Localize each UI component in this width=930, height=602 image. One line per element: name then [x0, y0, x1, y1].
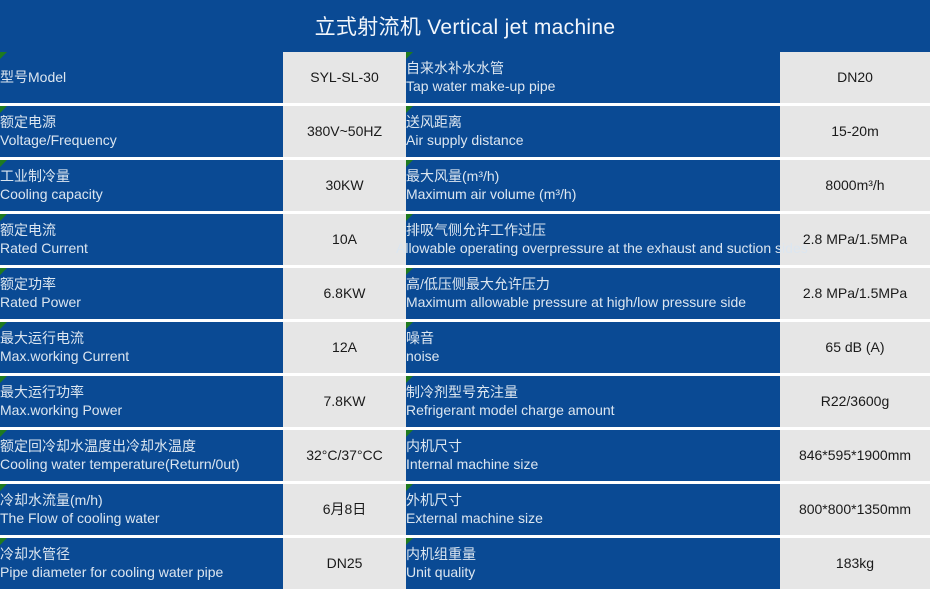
comment-marker-icon — [0, 484, 7, 491]
spec-value-left: 30KW — [283, 160, 406, 211]
spec-label-en: Maximum allowable pressure at high/low p… — [406, 294, 780, 312]
comment-marker-icon — [406, 430, 413, 437]
spec-label-en: Refrigerant model charge amount — [406, 402, 780, 420]
spec-value-right: 846*595*1900mm — [780, 430, 930, 481]
spec-label-en: Voltage/Frequency — [0, 132, 283, 150]
spec-label-en: noise — [406, 348, 780, 366]
spec-value-right: 8000m³/h — [780, 160, 930, 211]
spec-label-en: Unit quality — [406, 564, 780, 582]
spec-label-cn: 内机尺寸 — [406, 438, 780, 456]
spec-label-right: 噪音noise — [406, 322, 780, 373]
spec-label-left: 额定电源Voltage/Frequency — [0, 106, 283, 157]
spec-label-right: 内机尺寸Internal machine size — [406, 430, 780, 481]
spec-label-cn: 噪音 — [406, 330, 780, 348]
table-row: 额定回冷却水温度出冷却水温度Cooling water temperature(… — [0, 430, 930, 481]
spec-label-cn: 制冷剂型号充注量 — [406, 384, 780, 402]
table-row: 工业制冷量Cooling capacity30KW最大风量(m³/h)Maxim… — [0, 160, 930, 211]
spec-label-cn: 额定电流 — [0, 222, 283, 240]
spec-label-left: 最大运行电流Max.working Current — [0, 322, 283, 373]
spec-label-right: 送风距离Air supply distance — [406, 106, 780, 157]
spec-label-en: Max.working Power — [0, 402, 283, 420]
comment-marker-icon — [0, 52, 7, 59]
comment-marker-icon — [406, 106, 413, 113]
spec-label-cn: 排吸气侧允许工作过压 — [406, 222, 780, 240]
comment-marker-icon — [406, 52, 413, 59]
spec-label-en: Cooling water temperature(Return/0ut) — [0, 456, 283, 474]
spec-label-cn: 冷却水管径 — [0, 546, 283, 564]
table-row: 型号ModelSYL-SL-30自来水补水水管Tap water make-up… — [0, 52, 930, 103]
spec-sheet: XIIKQ 立式射流机 Vertical jet machine 型号Model… — [0, 0, 930, 602]
spec-label-en: Rated Power — [0, 294, 283, 312]
spec-label-cn: 高/低压侧最大允许压力 — [406, 276, 780, 294]
comment-marker-icon — [0, 538, 7, 545]
spec-value-left: SYL-SL-30 — [283, 52, 406, 103]
spec-value-right: 65 dB (A) — [780, 322, 930, 373]
spec-label-left: 工业制冷量Cooling capacity — [0, 160, 283, 211]
table-row: 额定功率Rated Power6.8KW高/低压侧最大允许压力Maximum a… — [0, 268, 930, 319]
spec-value-left: 32°C/37°CC — [283, 430, 406, 481]
spec-label-left: 冷却水流量(m/h)The Flow of cooling water — [0, 484, 283, 535]
table-row: 最大运行电流Max.working Current12A噪音noise65 dB… — [0, 322, 930, 373]
spec-label-en: Rated Current — [0, 240, 283, 258]
spec-label-en: Cooling capacity — [0, 186, 283, 204]
spec-label-left: 额定电流Rated Current — [0, 214, 283, 265]
comment-marker-icon — [0, 268, 7, 275]
spec-label-left: 最大运行功率Max.working Power — [0, 376, 283, 427]
page-title: 立式射流机 Vertical jet machine — [0, 0, 930, 52]
comment-marker-icon — [406, 160, 413, 167]
spec-value-right: 800*800*1350mm — [780, 484, 930, 535]
comment-marker-icon — [406, 322, 413, 329]
comment-marker-icon — [0, 160, 7, 167]
comment-marker-icon — [406, 214, 413, 221]
table-row: 冷却水管径Pipe diameter for cooling water pip… — [0, 538, 930, 589]
comment-marker-icon — [0, 106, 7, 113]
spec-label-en: Allowable operating overpressure at the … — [396, 240, 816, 258]
spec-label-en: Max.working Current — [0, 348, 283, 366]
spec-label-cn: 额定电源 — [0, 114, 283, 132]
spec-label-en: Internal machine size — [406, 456, 780, 474]
spec-label-right: 外机尺寸External machine size — [406, 484, 780, 535]
spec-value-left: 10A — [283, 214, 406, 265]
spec-label-cn: 最大运行电流 — [0, 330, 283, 348]
spec-label-en: Tap water make-up pipe — [406, 78, 780, 96]
comment-marker-icon — [0, 322, 7, 329]
spec-label-en: The Flow of cooling water — [0, 510, 283, 528]
spec-label-cn: 送风距离 — [406, 114, 780, 132]
spec-label-left: 冷却水管径Pipe diameter for cooling water pip… — [0, 538, 283, 589]
spec-label-right: 最大风量(m³/h)Maximum air volume (m³/h) — [406, 160, 780, 211]
comment-marker-icon — [406, 268, 413, 275]
spec-label-left: 额定功率Rated Power — [0, 268, 283, 319]
spec-value-left: 7.8KW — [283, 376, 406, 427]
comment-marker-icon — [406, 538, 413, 545]
table-row: 额定电源Voltage/Frequency380V~50HZ送风距离Air su… — [0, 106, 930, 157]
spec-label-right: 自来水补水水管Tap water make-up pipe — [406, 52, 780, 103]
comment-marker-icon — [0, 376, 7, 383]
specification-table: 型号ModelSYL-SL-30自来水补水水管Tap water make-up… — [0, 52, 930, 589]
spec-label-right: 内机组重量Unit quality — [406, 538, 780, 589]
spec-label-cn: 型号Model — [0, 69, 283, 87]
spec-label-left: 额定回冷却水温度出冷却水温度Cooling water temperature(… — [0, 430, 283, 481]
comment-marker-icon — [0, 430, 7, 437]
spec-label-cn: 自来水补水水管 — [406, 60, 780, 78]
spec-label-right: 排吸气侧允许工作过压Allowable operating overpressu… — [406, 214, 780, 265]
comment-marker-icon — [0, 214, 7, 221]
spec-label-cn: 最大运行功率 — [0, 384, 283, 402]
spec-label-right: 制冷剂型号充注量Refrigerant model charge amount — [406, 376, 780, 427]
spec-value-right: 183kg — [780, 538, 930, 589]
spec-label-en: Maximum air volume (m³/h) — [406, 186, 780, 204]
table-row: 额定电流Rated Current10A排吸气侧允许工作过压Allowable … — [0, 214, 930, 265]
spec-value-right: 2.8 MPa/1.5MPa — [780, 268, 930, 319]
spec-value-right: R22/3600g — [780, 376, 930, 427]
table-row: 冷却水流量(m/h)The Flow of cooling water6月8日外… — [0, 484, 930, 535]
spec-value-left: DN25 — [283, 538, 406, 589]
spec-label-cn: 额定回冷却水温度出冷却水温度 — [0, 438, 283, 456]
spec-label-cn: 工业制冷量 — [0, 168, 283, 186]
spec-value-right: 15-20m — [780, 106, 930, 157]
spec-label-en: Pipe diameter for cooling water pipe — [0, 564, 283, 582]
spec-label-en: Air supply distance — [406, 132, 780, 150]
spec-label-cn: 冷却水流量(m/h) — [0, 492, 283, 510]
spec-label-cn: 外机尺寸 — [406, 492, 780, 510]
spec-value-left: 12A — [283, 322, 406, 373]
spec-label-right: 高/低压侧最大允许压力Maximum allowable pressure at… — [406, 268, 780, 319]
table-row: 最大运行功率Max.working Power7.8KW制冷剂型号充注量Refr… — [0, 376, 930, 427]
spec-label-cn: 内机组重量 — [406, 546, 780, 564]
spec-label-left: 型号Model — [0, 52, 283, 103]
spec-label-en: External machine size — [406, 510, 780, 528]
spec-value-left: 6.8KW — [283, 268, 406, 319]
comment-marker-icon — [406, 484, 413, 491]
spec-value-left: 6月8日 — [283, 484, 406, 535]
comment-marker-icon — [406, 376, 413, 383]
spec-label-cn: 额定功率 — [0, 276, 283, 294]
spec-label-cn: 最大风量(m³/h) — [406, 168, 780, 186]
spec-value-left: 380V~50HZ — [283, 106, 406, 157]
spec-value-right: DN20 — [780, 52, 930, 103]
